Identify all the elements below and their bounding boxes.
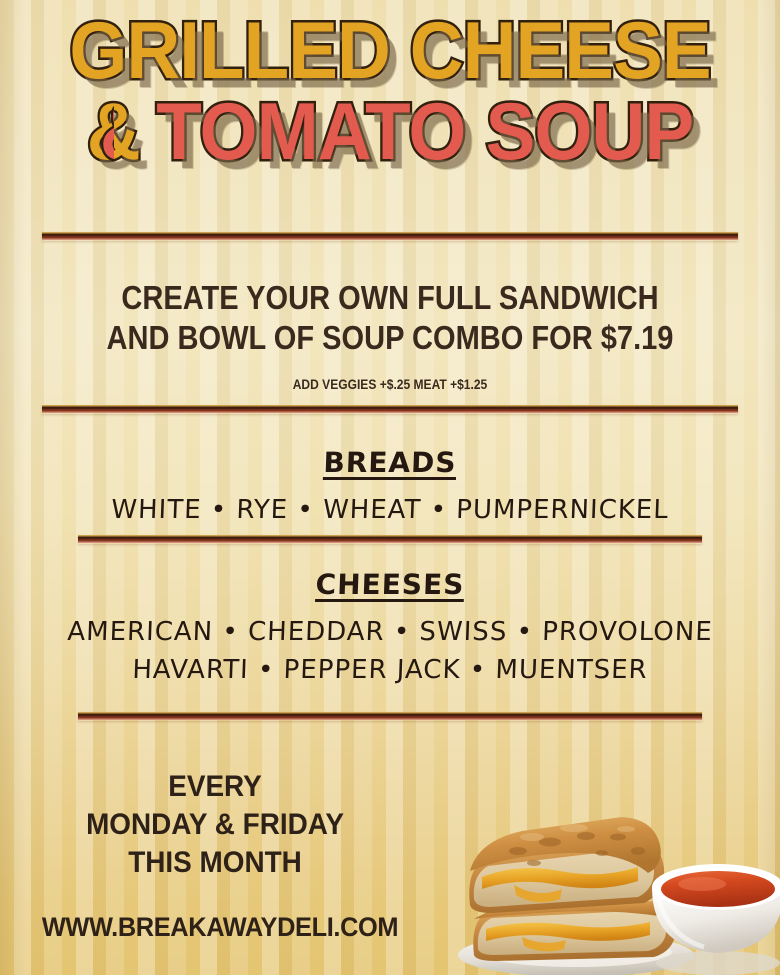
schedule-line-days: MONDAY & FRIDAY [15,806,415,844]
section-title-cheeses: CHEESES [0,568,780,601]
headline-ampersand: & & [87,95,140,170]
food-photo-grilled-cheese-and-soup [426,779,780,975]
food-illustration [426,779,780,975]
combo-headline-line-1: CREATE YOUR OWN FULL SANDWICH [47,278,733,318]
combo-offer-block: CREATE YOUR OWN FULL SANDWICH AND BOWL O… [0,278,780,392]
schedule-line-month: THIS MONTH [15,844,415,882]
section-title-breads: BREADS [0,446,780,479]
poster-headline: GRILLED CHEESE & & TOMATOSOUP [0,14,780,169]
schedule-block: EVERY MONDAY & FRIDAY THIS MONTH [0,768,430,881]
sandwich-upper-half [469,817,664,913]
divider-below-breads [78,535,702,544]
headline-text-soup: SOUP [486,95,694,170]
section-breads: BREADS WHITE • RYE • WHEAT • PUMPERNICKE… [0,446,780,529]
website-url[interactable]: WWW.BREAKAWAYDELI.COM [13,912,427,943]
headline-text-grilled-cheese: GRILLED CHEESE [69,14,710,89]
ampersand-red-half: & [87,95,114,170]
divider-below-combo [42,405,738,414]
headline-line-grilled-cheese: GRILLED CHEESE [31,14,749,89]
section-items-cheeses-line-2: HAVARTI • PEPPER JACK • MUENTSER [0,653,780,689]
divider-below-cheeses [78,712,702,721]
combo-headline-line-2: AND BOWL OF SOUP COMBO FOR $7.19 [47,318,733,358]
combo-addon-note: ADD VEGGIES +$.25 MEAT +$1.25 [55,376,726,392]
section-cheeses: CHEESES AMERICAN • CHEDDAR • SWISS • PRO… [0,568,780,689]
divider-below-headline [42,232,738,241]
ampersand-red-glyph: & [100,95,114,170]
poster-canvas: GRILLED CHEESE & & TOMATOSOUP CREATE YOU… [0,0,780,975]
soup-highlight [678,877,726,891]
headline-text-tomato: TOMATO [156,95,465,170]
section-items-breads: WHITE • RYE • WHEAT • PUMPERNICKEL [0,493,780,529]
bowl-saucer [656,951,780,975]
soup-bowl [652,864,780,975]
section-items-cheeses-line-1: AMERICAN • CHEDDAR • SWISS • PROVOLONE [0,615,780,651]
headline-line-tomato-soup: & & TOMATOSOUP [31,95,749,170]
schedule-line-every: EVERY [15,768,415,806]
